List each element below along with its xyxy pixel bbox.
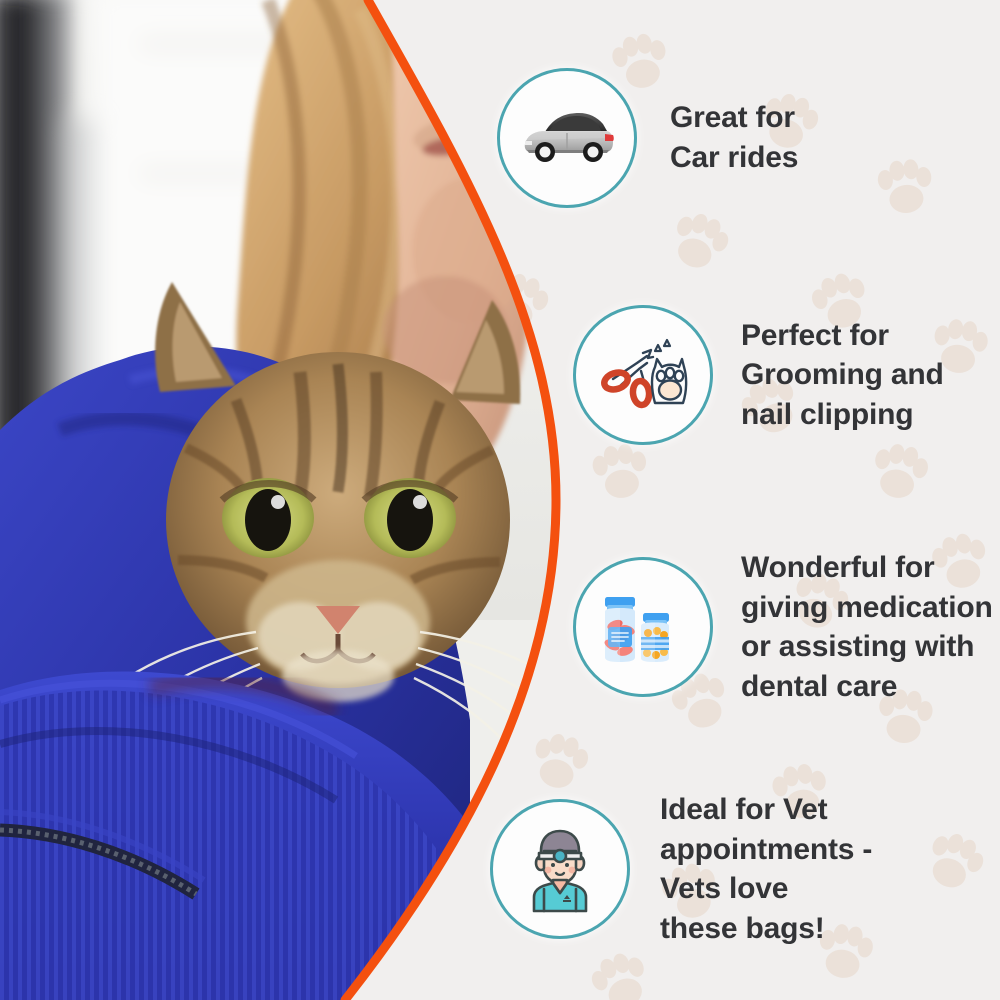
veterinarian-icon-circle [490,799,630,939]
nail-clippers-paw-icon-circle [573,305,713,445]
car-icon [515,86,619,190]
feature-car-rides: Great for Car rides [497,68,798,208]
feature-vet-appointments: Ideal for Vet appointments - Vets love t… [490,790,872,948]
feature-grooming: Perfect for Grooming and nail clipping [573,305,944,445]
feature-medication: Wonderful for giving medication or assis… [573,548,993,706]
feature-label: Great for Car rides [670,98,798,177]
feature-label: Ideal for Vet appointments - Vets love t… [660,790,872,948]
nail-clippers-paw-icon [591,323,695,427]
pill-bottles-icon-circle [573,557,713,697]
pill-bottles-icon [591,575,695,679]
veterinarian-icon [508,817,612,921]
feature-label: Wonderful for giving medication or assis… [741,548,993,706]
feature-label: Perfect for Grooming and nail clipping [741,316,944,435]
infographic-root: Great for Car rides [0,0,1000,1000]
car-icon-circle [497,68,637,208]
